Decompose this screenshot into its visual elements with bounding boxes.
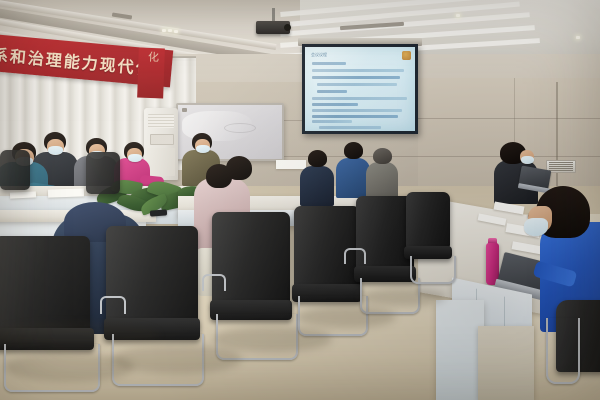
- chair-shadow: [296, 306, 396, 328]
- person-torso: [366, 162, 398, 200]
- ac-grill-icon: [148, 114, 174, 128]
- person-torso: [336, 158, 370, 198]
- recessed-light: [168, 29, 172, 32]
- face-mask: [521, 156, 534, 164]
- office-chair: [406, 192, 450, 250]
- paper-stack: [276, 160, 306, 169]
- projector-lens-icon: [284, 24, 291, 31]
- person-hair: [308, 150, 327, 167]
- person-hair: [206, 164, 232, 188]
- chair-armrest: [100, 296, 126, 314]
- chair-frame: [410, 256, 456, 284]
- table-cloth: [436, 300, 484, 400]
- chair-frame: [546, 318, 580, 384]
- whiteboard-marking: [224, 123, 256, 133]
- face-mask: [128, 154, 142, 162]
- recessed-light: [162, 29, 166, 32]
- recessed-light: [576, 36, 580, 39]
- chair-armrest: [344, 248, 366, 264]
- recessed-light: [456, 14, 460, 17]
- person-hair: [373, 148, 392, 164]
- banner-drop-end: 化: [137, 48, 165, 99]
- ac-control-panel: [150, 134, 174, 145]
- person-torso: [300, 166, 334, 206]
- paper-stack: [48, 188, 84, 197]
- office-chair: [212, 212, 290, 310]
- slide-logo-icon: [402, 51, 411, 60]
- office-chair: [106, 226, 198, 330]
- person-hair: [344, 142, 363, 159]
- table-leg-panel: [478, 326, 534, 400]
- door-edge: [556, 82, 558, 194]
- whiteboard-clip-icon: [182, 108, 187, 112]
- face-mask: [48, 146, 63, 155]
- screen-glare: [305, 47, 415, 131]
- recessed-light: [174, 30, 178, 33]
- slide-title: 会议议程: [311, 52, 327, 58]
- projection-screen: 会议议程: [305, 47, 415, 131]
- mobile-phone: [150, 209, 167, 216]
- chair-shadow: [112, 344, 242, 374]
- face-mask: [524, 218, 548, 236]
- ac-lower-body: [147, 148, 175, 176]
- banner-text: 系和治理能力现代化: [0, 40, 155, 79]
- meeting-room-photo: 系和治理能力现代化 化 会议议程: [0, 0, 600, 400]
- office-chair: [0, 150, 30, 190]
- office-chair: [86, 152, 120, 194]
- face-mask: [196, 145, 210, 153]
- chair-shadow: [212, 326, 332, 352]
- banner-tail-text: 化: [138, 48, 160, 63]
- projector-mount: [272, 8, 275, 22]
- chair-armrest: [202, 274, 226, 291]
- chair-shadow: [360, 288, 446, 306]
